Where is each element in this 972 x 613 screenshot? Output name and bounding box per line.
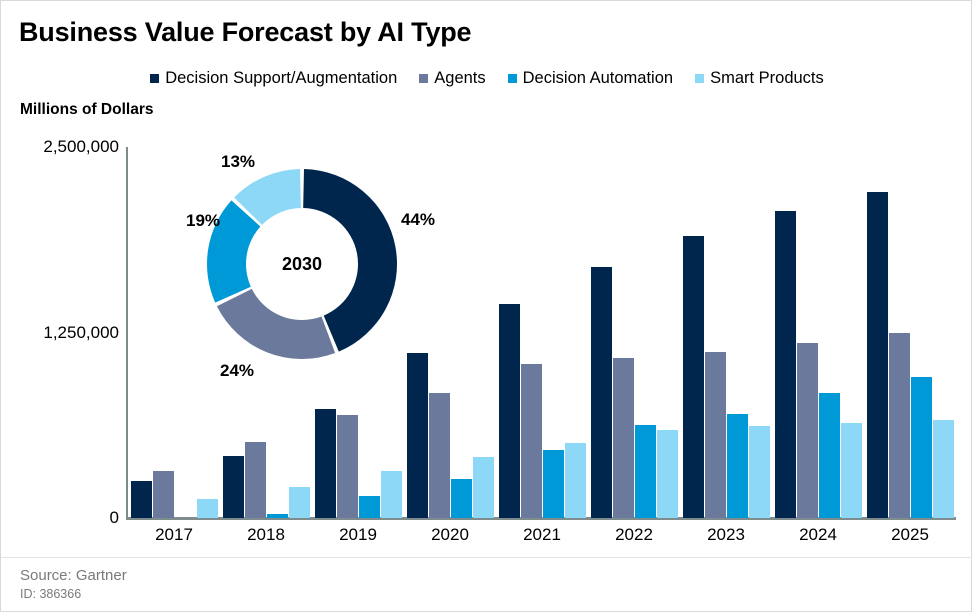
x-axis-tick-label: 2020: [431, 525, 469, 545]
donut-slice-label: 44%: [401, 210, 435, 230]
bar[interactable]: [429, 393, 450, 518]
y-axis-line: [126, 147, 128, 519]
bar[interactable]: [841, 423, 862, 518]
bar[interactable]: [223, 456, 244, 518]
bar[interactable]: [381, 471, 402, 518]
bar[interactable]: [657, 430, 678, 518]
chart-card: Business Value Forecast by AI Type Decis…: [0, 0, 972, 612]
bar[interactable]: [315, 409, 336, 518]
bar[interactable]: [933, 420, 954, 518]
x-axis-tick-label: 2025: [891, 525, 929, 545]
donut-slice-label: 24%: [220, 361, 254, 381]
bar[interactable]: [267, 514, 288, 518]
bar[interactable]: [131, 481, 152, 518]
bar[interactable]: [727, 414, 748, 518]
bar[interactable]: [683, 236, 704, 518]
x-axis-tick-label: 2021: [523, 525, 561, 545]
bar[interactable]: [473, 457, 494, 518]
y-axis-tick-label: 1,250,000: [9, 323, 119, 343]
bar[interactable]: [499, 304, 520, 518]
bar[interactable]: [705, 352, 726, 518]
bar[interactable]: [797, 343, 818, 518]
bar[interactable]: [749, 426, 770, 518]
bar-chart-plot: 01,250,0002,500,000201720182019202020212…: [1, 1, 972, 613]
source-text: Source: Gartner: [20, 567, 127, 584]
bar[interactable]: [337, 415, 358, 518]
bar[interactable]: [153, 471, 174, 518]
bar[interactable]: [889, 333, 910, 519]
x-axis-tick-label: 2018: [247, 525, 285, 545]
bar[interactable]: [521, 364, 542, 518]
bar[interactable]: [911, 377, 932, 518]
donut-chart: [202, 164, 402, 364]
donut-slice[interactable]: [217, 289, 335, 359]
x-axis-tick-label: 2024: [799, 525, 837, 545]
bar[interactable]: [359, 496, 380, 518]
x-axis-tick-label: 2019: [339, 525, 377, 545]
bar[interactable]: [197, 499, 218, 518]
bar[interactable]: [591, 267, 612, 518]
donut-slice-label: 13%: [221, 152, 255, 172]
bar[interactable]: [245, 442, 266, 518]
bar[interactable]: [635, 425, 656, 518]
y-axis-tick-label: 2,500,000: [9, 137, 119, 157]
chart-id-text: ID: 386366: [20, 587, 81, 601]
donut-slice-label: 19%: [186, 211, 220, 231]
bar[interactable]: [565, 443, 586, 518]
bar[interactable]: [819, 393, 840, 518]
bar[interactable]: [613, 358, 634, 518]
bar[interactable]: [775, 211, 796, 518]
x-axis-tick-label: 2017: [155, 525, 193, 545]
y-axis-tick-label: 0: [9, 508, 119, 528]
bar[interactable]: [451, 479, 472, 518]
bar[interactable]: [867, 192, 888, 518]
x-axis-tick-label: 2023: [707, 525, 745, 545]
bar[interactable]: [543, 450, 564, 518]
footer-divider: [1, 557, 972, 558]
x-axis-tick-label: 2022: [615, 525, 653, 545]
bar[interactable]: [407, 353, 428, 518]
bar[interactable]: [289, 487, 310, 518]
